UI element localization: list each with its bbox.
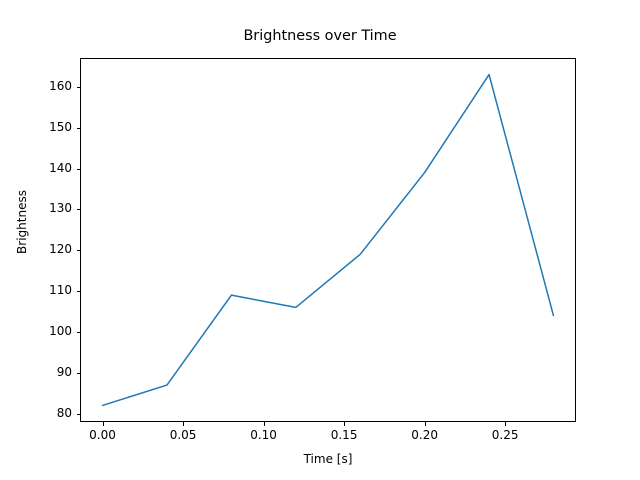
y-tick-mark <box>77 373 81 374</box>
x-tick-label: 0.15 <box>314 428 374 442</box>
y-tick-mark <box>77 250 81 251</box>
y-tick-mark <box>77 128 81 129</box>
x-tick-mark <box>264 422 265 426</box>
y-tick-label: 100 <box>20 324 72 338</box>
y-tick-mark <box>77 169 81 170</box>
y-tick-label: 150 <box>20 120 72 134</box>
y-tick-mark <box>77 209 81 210</box>
x-tick-label: 0.10 <box>234 428 294 442</box>
chart-title: Brightness over Time <box>0 28 640 44</box>
x-axis-label: Time [s] <box>80 452 576 466</box>
y-axis-label: Brightness <box>15 162 29 282</box>
y-tick-mark <box>77 291 81 292</box>
y-tick-mark <box>77 332 81 333</box>
x-tick-mark <box>183 422 184 426</box>
x-tick-mark <box>103 422 104 426</box>
matplotlib-figure: Brightness over Time 8090100110120130140… <box>0 0 640 480</box>
x-tick-mark <box>344 422 345 426</box>
x-tick-label: 0.00 <box>73 428 133 442</box>
y-tick-label: 90 <box>20 365 72 379</box>
brightness-line-series <box>103 75 554 406</box>
x-tick-mark <box>425 422 426 426</box>
x-tick-mark <box>505 422 506 426</box>
line-plot-area <box>80 58 576 422</box>
x-tick-label: 0.20 <box>395 428 455 442</box>
y-tick-mark <box>77 414 81 415</box>
y-tick-label: 80 <box>20 406 72 420</box>
y-tick-label: 110 <box>20 283 72 297</box>
y-tick-mark <box>77 87 81 88</box>
x-tick-label: 0.25 <box>475 428 535 442</box>
x-tick-label: 0.05 <box>153 428 213 442</box>
y-tick-label: 160 <box>20 79 72 93</box>
